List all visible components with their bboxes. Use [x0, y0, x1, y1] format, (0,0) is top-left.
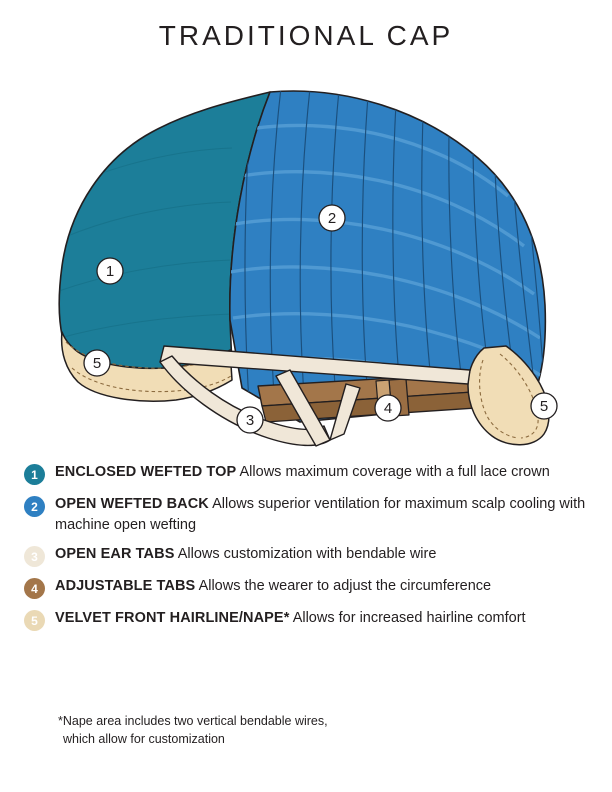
- diagram-marker-2[interactable]: 2: [319, 205, 345, 231]
- diagram-marker-3-label: 3: [246, 412, 254, 429]
- legend-item-5[interactable]: 5 VELVET FRONT HAIRLINE/NAPE* Allows for…: [0, 608, 612, 631]
- legend-badge-4-number: 4: [31, 583, 38, 595]
- diagram-marker-4[interactable]: 4: [375, 395, 401, 421]
- diagram-marker-1-label: 1: [106, 263, 114, 280]
- diagram-marker-2-label: 2: [328, 210, 336, 227]
- legend-text-5: VELVET FRONT HAIRLINE/NAPE* Allows for i…: [55, 608, 526, 629]
- legend-term-1: ENCLOSED WEFTED TOP: [55, 464, 236, 480]
- legend-term-2: OPEN WEFTED BACK: [55, 496, 209, 512]
- legend-item-2[interactable]: 2 OPEN WEFTED BACK Allows superior venti…: [0, 494, 612, 535]
- legend-badge-3-number: 3: [31, 551, 38, 563]
- legend-badge-3: 3: [24, 546, 45, 567]
- cap-diagram: 1 2 3 4 5: [0, 70, 612, 455]
- legend-term-5: VELVET FRONT HAIRLINE/NAPE*: [55, 610, 289, 626]
- legend-description-4: Allows the wearer to adjust the circumfe…: [199, 578, 492, 594]
- legend-badge-5: 5: [24, 610, 45, 631]
- legend-description-3: Allows customization with bendable wire: [178, 546, 437, 562]
- diagram-marker-1[interactable]: 1: [97, 258, 123, 284]
- footnote-line-1: *Nape area includes two vertical bendabl…: [58, 712, 578, 730]
- page-title: TRADITIONAL CAP: [0, 20, 612, 52]
- legend-text-3: OPEN EAR TABS Allows customization with …: [55, 544, 436, 565]
- legend-text-1: ENCLOSED WEFTED TOP Allows maximum cover…: [55, 462, 550, 483]
- legend-badge-1-number: 1: [31, 469, 38, 481]
- diagram-marker-5-left[interactable]: 5: [84, 350, 110, 376]
- legend-list: 1 ENCLOSED WEFTED TOP Allows maximum cov…: [0, 462, 612, 640]
- legend-text-4: ADJUSTABLE TABS Allows the wearer to adj…: [55, 576, 491, 597]
- footnote: *Nape area includes two vertical bendabl…: [58, 712, 578, 748]
- page-root: TRADITIONAL CAP: [0, 0, 612, 792]
- legend-item-4[interactable]: 4 ADJUSTABLE TABS Allows the wearer to a…: [0, 576, 612, 599]
- legend-badge-2: 2: [24, 496, 45, 517]
- legend-description-5: Allows for increased hairline comfort: [293, 610, 526, 626]
- diagram-marker-5-right[interactable]: 5: [531, 393, 557, 419]
- legend-badge-1: 1: [24, 464, 45, 485]
- diagram-marker-5-left-label: 5: [93, 355, 101, 372]
- legend-item-3[interactable]: 3 OPEN EAR TABS Allows customization wit…: [0, 544, 612, 567]
- diagram-marker-5-right-label: 5: [540, 398, 548, 415]
- legend-term-3: OPEN EAR TABS: [55, 546, 174, 562]
- footnote-line-2: which allow for customization: [58, 730, 578, 748]
- legend-badge-2-number: 2: [31, 501, 38, 513]
- legend-badge-5-number: 5: [31, 615, 38, 627]
- legend-description-1: Allows maximum coverage with a full lace…: [240, 464, 550, 480]
- legend-item-1[interactable]: 1 ENCLOSED WEFTED TOP Allows maximum cov…: [0, 462, 612, 485]
- diagram-marker-3[interactable]: 3: [237, 407, 263, 433]
- legend-badge-4: 4: [24, 578, 45, 599]
- diagram-marker-4-label: 4: [384, 400, 392, 417]
- legend-text-2: OPEN WEFTED BACK Allows superior ventila…: [55, 494, 600, 535]
- legend-term-4: ADJUSTABLE TABS: [55, 578, 195, 594]
